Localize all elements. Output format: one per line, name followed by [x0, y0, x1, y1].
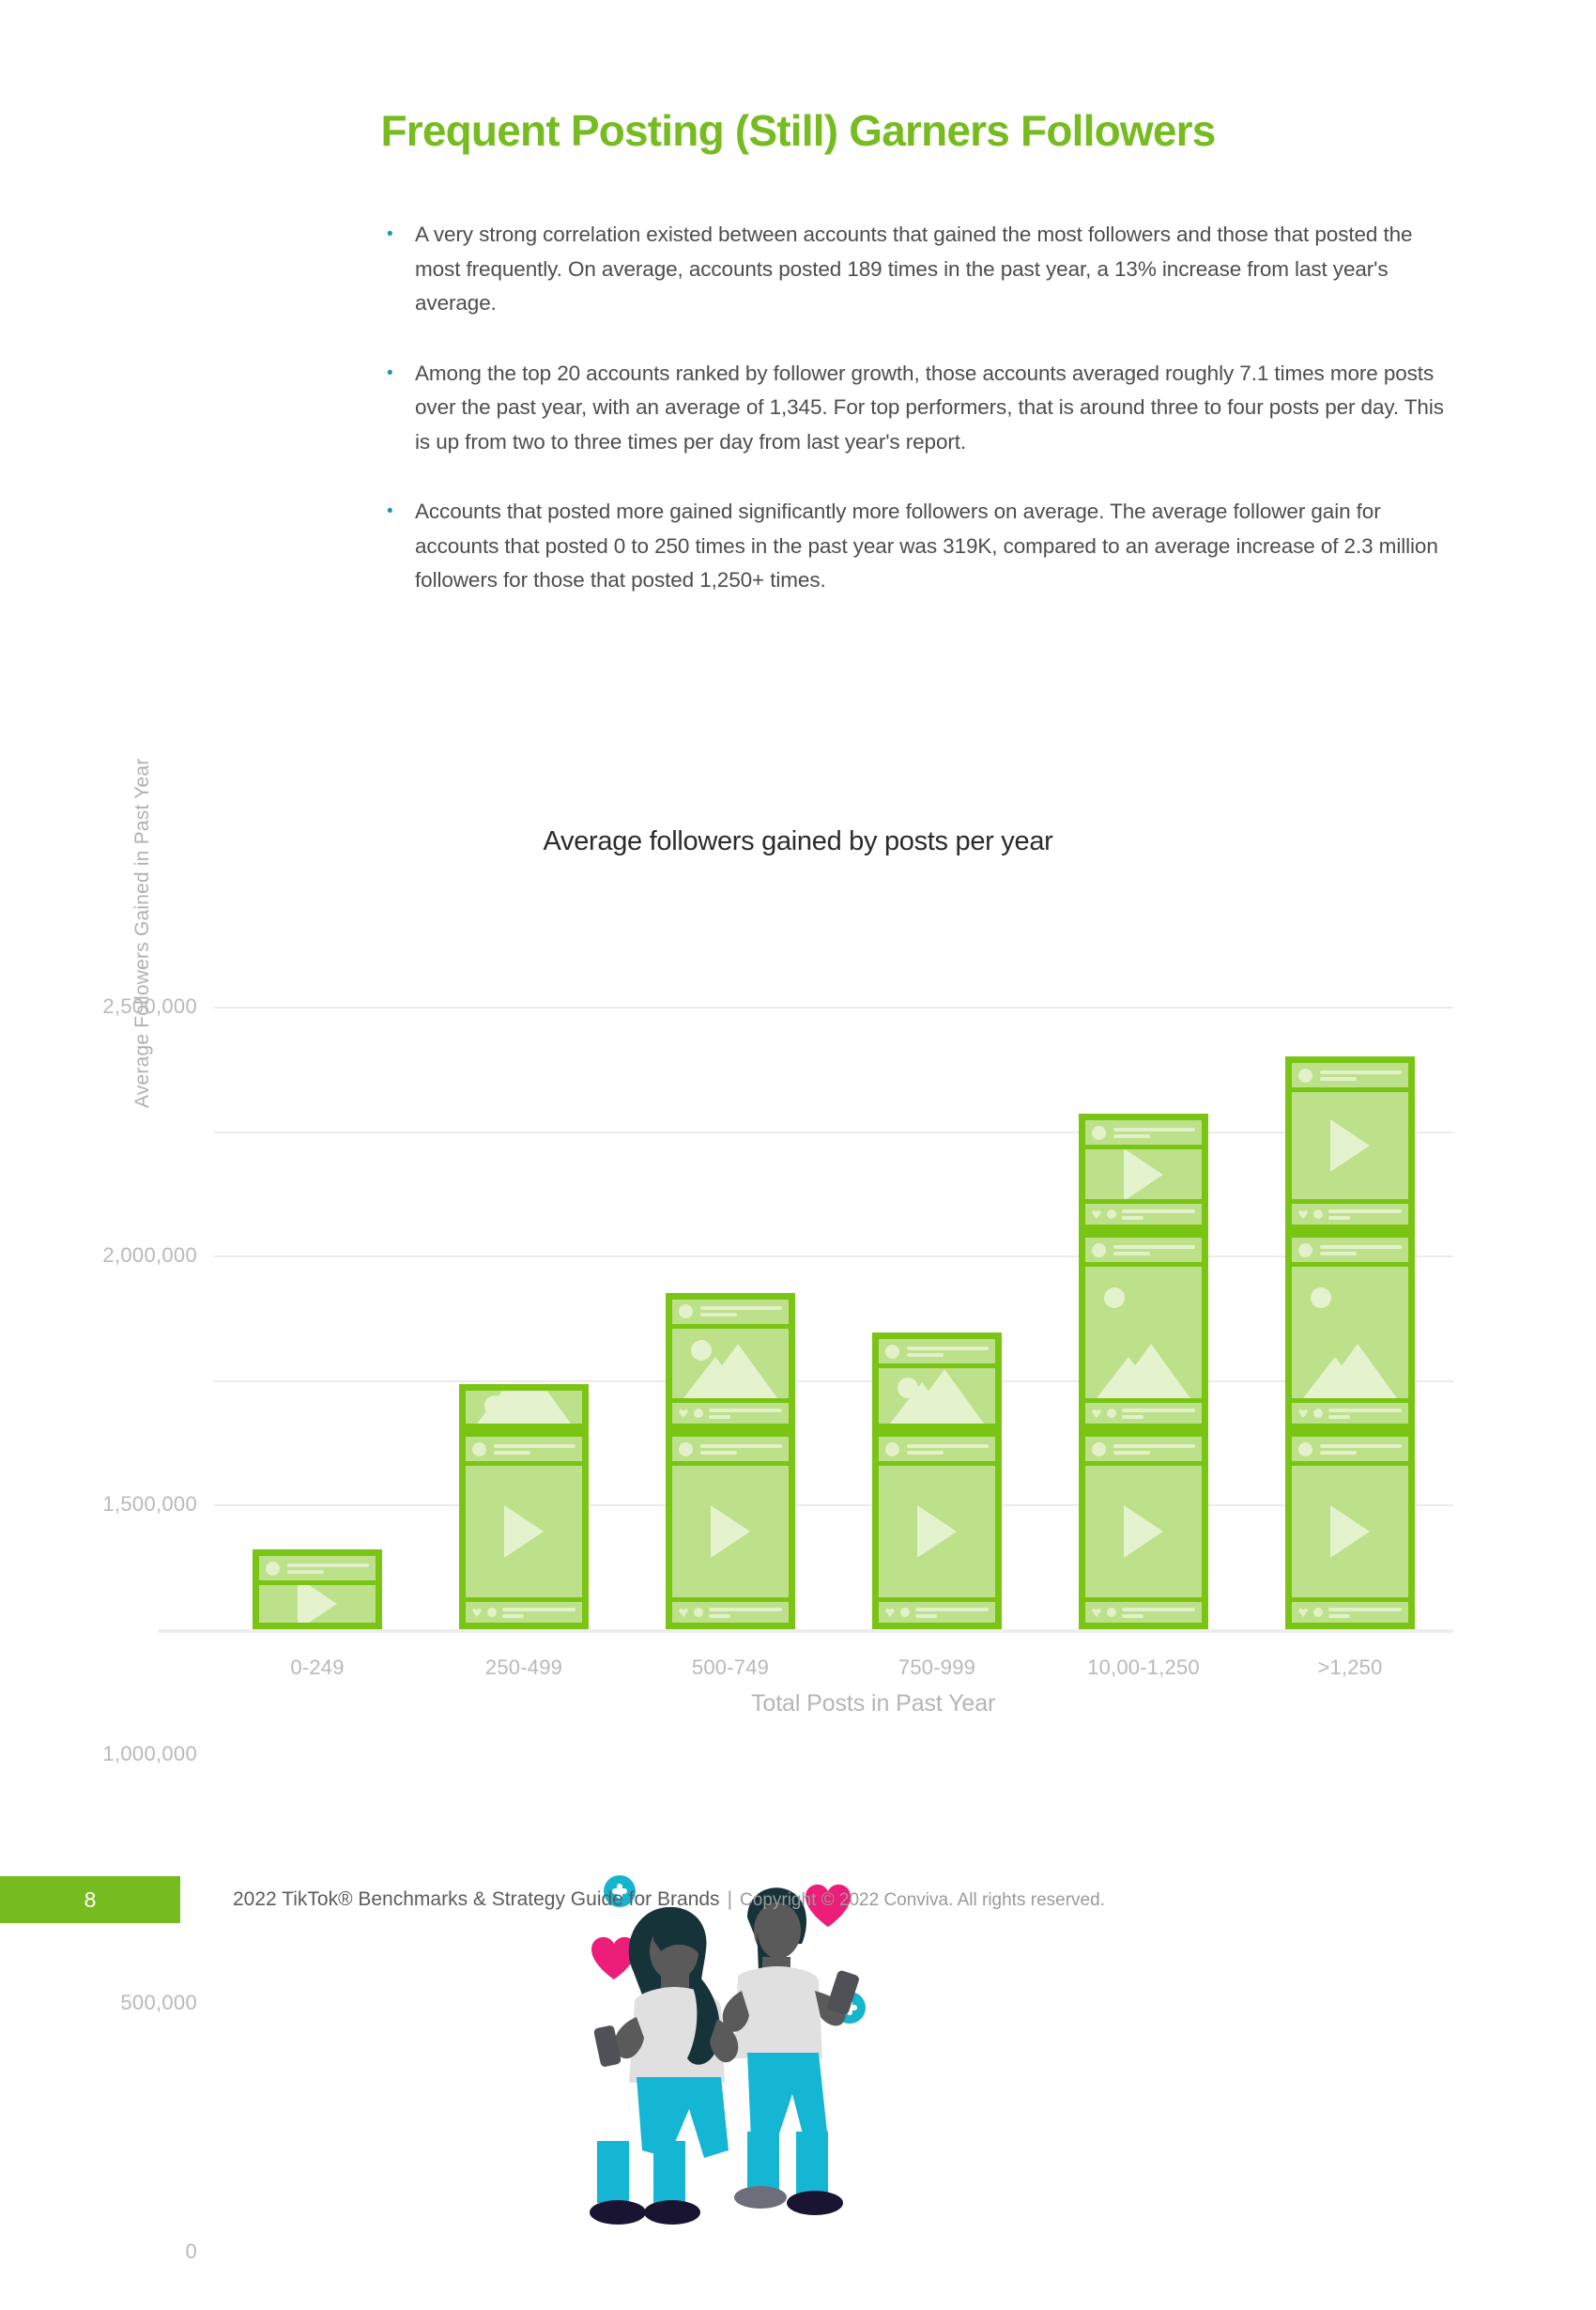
post-card-video-thumb [879, 1466, 995, 1597]
text-line [1122, 1608, 1195, 1611]
text-line [1328, 1409, 1402, 1412]
post-card-header [259, 1556, 376, 1580]
text-line [907, 1451, 944, 1455]
comment-icon [1107, 1608, 1116, 1617]
post-card-header [879, 1339, 995, 1363]
text-line [907, 1353, 944, 1357]
bullet-marker-icon: • [383, 495, 415, 529]
bar[interactable] [1079, 1114, 1208, 1629]
bullet-text: A very strong correlation existed betwee… [415, 218, 1453, 321]
y-axis-title: Average Followers Gained in Past Year [131, 582, 154, 1108]
post-card [1079, 1114, 1208, 1231]
text-line [1122, 1409, 1195, 1412]
comment-icon [1313, 1608, 1323, 1617]
post-card [459, 1384, 589, 1430]
page-title: Frequent Posting (Still) Garners Followe… [0, 105, 1596, 156]
post-card [1079, 1430, 1208, 1629]
chart-container: Average followers gained by posts per ye… [0, 826, 1596, 1578]
post-card-header [672, 1437, 789, 1461]
text-line [1113, 1252, 1150, 1255]
heart-icon [1092, 1409, 1101, 1418]
heart-icon [1092, 1209, 1101, 1219]
post-card-video-thumb [1292, 1092, 1408, 1199]
bar-column[interactable]: 750-999 [872, 1332, 1002, 1629]
play-icon [1330, 1505, 1370, 1558]
play-icon [1124, 1505, 1163, 1558]
bullet-list: • A very strong correlation existed betw… [383, 218, 1453, 634]
plot-area: 0500,0001,000,0001,500,0002,000,0002,500… [214, 1007, 1453, 1629]
play-icon [1330, 1119, 1370, 1172]
post-card-text-lines [502, 1608, 575, 1618]
plus-badge-icon [834, 1992, 866, 2024]
text-line [1122, 1614, 1143, 1618]
text-line [700, 1451, 737, 1455]
avatar [266, 1562, 280, 1576]
text-line [1328, 1209, 1402, 1213]
x-axis-tick-label: 0-249 [290, 1655, 344, 1680]
text-line [915, 1614, 937, 1618]
post-card-text-lines [1122, 1209, 1195, 1220]
heart-icon [472, 1608, 482, 1617]
heart-icon [885, 1608, 895, 1617]
heart-icon [1092, 1608, 1101, 1617]
post-card-video-thumb [466, 1466, 582, 1597]
sun-icon [1311, 1287, 1331, 1308]
footer-separator: | [720, 1888, 740, 1910]
heart-icon [679, 1409, 688, 1418]
list-item: • A very strong correlation existed betw… [383, 218, 1453, 321]
text-line [1328, 1415, 1350, 1419]
post-card-video-thumb [259, 1585, 376, 1623]
post-card [459, 1430, 589, 1629]
chart-title: Average followers gained by posts per ye… [0, 826, 1596, 857]
post-card-text-lines [1113, 1444, 1195, 1455]
post-card [666, 1430, 795, 1629]
y-axis-tick-label: 2,000,000 [102, 1243, 197, 1268]
avatar [885, 1442, 899, 1456]
post-card-video-thumb [1085, 1149, 1202, 1199]
heart-icon [1298, 1608, 1308, 1617]
text-line [287, 1563, 369, 1567]
post-card-footer [672, 1602, 789, 1623]
bar-column[interactable]: 250-499 [459, 1384, 589, 1629]
text-line [700, 1444, 782, 1448]
post-card-text-lines [700, 1444, 782, 1455]
post-card-header [1085, 1120, 1202, 1145]
bullet-text: Accounts that posted more gained signifi… [415, 495, 1453, 598]
post-card-header [1292, 1063, 1408, 1087]
list-item: • Accounts that posted more gained signi… [383, 495, 1453, 598]
text-line [1122, 1415, 1143, 1419]
x-axis-tick-label: 250-499 [485, 1655, 562, 1680]
text-line [1328, 1614, 1350, 1618]
x-axis-tick-label: >1,250 [1317, 1655, 1382, 1680]
text-line [709, 1608, 782, 1611]
text-line [1113, 1134, 1150, 1138]
post-card-text-lines [1328, 1409, 1402, 1419]
post-card-text-lines [1328, 1608, 1402, 1618]
comment-icon [487, 1608, 497, 1617]
post-card-text-lines [287, 1563, 369, 1574]
text-line [1320, 1245, 1402, 1249]
footer-text: 2022 TikTok® Benchmarks & Strategy Guide… [233, 1876, 1105, 1923]
avatar [1298, 1069, 1312, 1083]
bar[interactable] [872, 1332, 1002, 1629]
bar[interactable] [666, 1293, 795, 1629]
text-line [494, 1444, 575, 1448]
x-axis-tick-label: 750-999 [898, 1655, 975, 1680]
post-card-image-thumb [1292, 1267, 1408, 1398]
post-card-text-lines [1320, 1245, 1402, 1255]
mountain-icon [698, 1344, 777, 1398]
comment-icon [694, 1409, 703, 1418]
post-card-footer [466, 1602, 582, 1623]
bar[interactable] [253, 1549, 382, 1629]
comment-icon [900, 1608, 910, 1617]
comment-icon [1313, 1409, 1323, 1418]
avatar [1092, 1126, 1106, 1140]
text-line [907, 1444, 989, 1448]
post-card-image-thumb [879, 1368, 995, 1424]
x-axis-title: Total Posts in Past Year [751, 1690, 1408, 1717]
heart-icon [1298, 1209, 1308, 1219]
post-card [666, 1293, 795, 1430]
post-card-header [1292, 1238, 1408, 1262]
sun-icon [1104, 1287, 1125, 1308]
text-line [700, 1306, 782, 1310]
avatar [1092, 1243, 1106, 1257]
text-line [907, 1347, 989, 1350]
footer-copyright: Copyright © 2022 Conviva. All rights res… [740, 1890, 1105, 1910]
post-card [1285, 1430, 1415, 1629]
post-card [1285, 1056, 1415, 1231]
post-card-text-lines [1328, 1209, 1402, 1220]
post-card-video-thumb [672, 1466, 789, 1597]
post-card [872, 1430, 1002, 1629]
comment-icon [1107, 1409, 1116, 1418]
text-line [1122, 1216, 1143, 1220]
footer-title: 2022 TikTok® Benchmarks & Strategy Guide… [233, 1888, 720, 1910]
text-line [1113, 1245, 1195, 1249]
bullet-marker-icon: • [383, 357, 415, 391]
bullet-marker-icon: • [383, 218, 415, 252]
heart-icon [1298, 1409, 1308, 1418]
text-line [1320, 1252, 1357, 1255]
text-line [1328, 1216, 1350, 1220]
text-line [1122, 1209, 1195, 1213]
post-card-video-thumb [1085, 1466, 1202, 1597]
text-line [287, 1570, 324, 1574]
text-line [1113, 1128, 1195, 1132]
page-number: 8 [0, 1876, 180, 1923]
post-card-image-thumb [672, 1329, 789, 1398]
person-right [723, 1887, 861, 2215]
play-icon [711, 1505, 750, 1558]
text-line [1320, 1451, 1357, 1455]
post-card-text-lines [907, 1444, 989, 1455]
text-line [494, 1451, 530, 1455]
post-card-footer [1292, 1602, 1408, 1623]
post-card-video-thumb [1292, 1466, 1408, 1597]
avatar [885, 1345, 899, 1359]
text-line [915, 1608, 989, 1611]
post-card-footer [672, 1403, 789, 1424]
post-card [872, 1332, 1002, 1430]
post-card-footer [879, 1602, 995, 1623]
bar-column[interactable]: 500-749 [666, 1293, 795, 1629]
play-icon [917, 1505, 957, 1558]
text-line [1320, 1077, 1357, 1081]
text-line [709, 1614, 730, 1618]
mountain-icon [492, 1391, 571, 1424]
text-line [700, 1313, 737, 1317]
bar[interactable] [459, 1384, 589, 1629]
post-card [253, 1549, 382, 1629]
avatar [1092, 1442, 1106, 1456]
post-card-header [879, 1437, 995, 1461]
axis-baseline [158, 1629, 1453, 1633]
y-axis-tick-label: 1,500,000 [102, 1492, 197, 1517]
bar-series: 0-249250-499500-749750-99910,00-1,250>1,… [214, 1007, 1453, 1629]
post-card-header [1085, 1437, 1202, 1461]
post-card-text-lines [1320, 1444, 1402, 1455]
post-card-header [1292, 1437, 1408, 1461]
post-card-text-lines [1122, 1409, 1195, 1419]
post-card-header [466, 1437, 582, 1461]
post-card-text-lines [1320, 1070, 1402, 1081]
avatar [1298, 1442, 1312, 1456]
bar-column[interactable]: 10,00-1,250 [1079, 1114, 1208, 1629]
avatar [679, 1442, 693, 1456]
comment-icon [1107, 1209, 1116, 1219]
bar[interactable] [1285, 1056, 1415, 1629]
mountain-icon [905, 1369, 984, 1424]
avatar [679, 1304, 693, 1318]
avatar [1298, 1243, 1312, 1257]
text-line [502, 1614, 524, 1618]
list-item: • Among the top 20 accounts ranked by fo… [383, 357, 1453, 460]
post-card-footer [1292, 1204, 1408, 1224]
comment-icon [694, 1608, 703, 1617]
y-axis-tick-label: 0 [185, 2240, 197, 2264]
avatar [472, 1442, 486, 1456]
text-line [502, 1608, 575, 1611]
post-card-image-thumb [466, 1391, 582, 1424]
bar-column[interactable]: >1,250 [1285, 1056, 1415, 1629]
post-card-header [1085, 1238, 1202, 1262]
post-card-footer [1085, 1403, 1202, 1424]
play-icon [504, 1505, 544, 1558]
bullet-text: Among the top 20 accounts ranked by foll… [415, 357, 1453, 460]
bar-column[interactable]: 0-249 [253, 1549, 382, 1629]
post-card-text-lines [700, 1306, 782, 1317]
play-icon [298, 1585, 337, 1623]
post-card-text-lines [907, 1347, 989, 1357]
mountain-icon [1318, 1344, 1397, 1398]
x-axis-tick-label: 10,00-1,250 [1087, 1655, 1200, 1680]
post-card-text-lines [494, 1444, 575, 1455]
text-line [1320, 1444, 1402, 1448]
y-axis-tick-label: 2,500,000 [102, 994, 197, 1019]
text-line [1113, 1451, 1150, 1455]
post-card-text-lines [709, 1608, 782, 1618]
post-card-footer [1292, 1403, 1408, 1424]
post-card-text-lines [915, 1608, 989, 1618]
post-card [1285, 1231, 1415, 1430]
text-line [1113, 1444, 1195, 1448]
post-card [1079, 1231, 1208, 1430]
post-card-text-lines [709, 1409, 782, 1419]
post-card-text-lines [1113, 1128, 1195, 1138]
text-line [1320, 1070, 1402, 1074]
heart-icon [591, 1937, 637, 1979]
post-card-footer [1085, 1602, 1202, 1623]
mountain-icon [1112, 1344, 1190, 1398]
play-icon [1124, 1149, 1163, 1199]
post-card-text-lines [1113, 1245, 1195, 1255]
text-line [709, 1415, 730, 1419]
y-axis-tick-label: 500,000 [120, 1991, 197, 2015]
two-people-illustration [563, 1859, 958, 2310]
comment-icon [1313, 1209, 1323, 1219]
post-card-image-thumb [1085, 1267, 1202, 1398]
x-axis-tick-label: 500-749 [692, 1655, 769, 1680]
post-card-footer [1085, 1204, 1202, 1224]
text-line [709, 1409, 782, 1412]
y-axis-tick-label: 1,000,000 [102, 1742, 197, 1766]
post-card-text-lines [1122, 1608, 1195, 1618]
heart-icon [679, 1608, 688, 1617]
post-card-header [672, 1300, 789, 1324]
text-line [1328, 1608, 1402, 1611]
